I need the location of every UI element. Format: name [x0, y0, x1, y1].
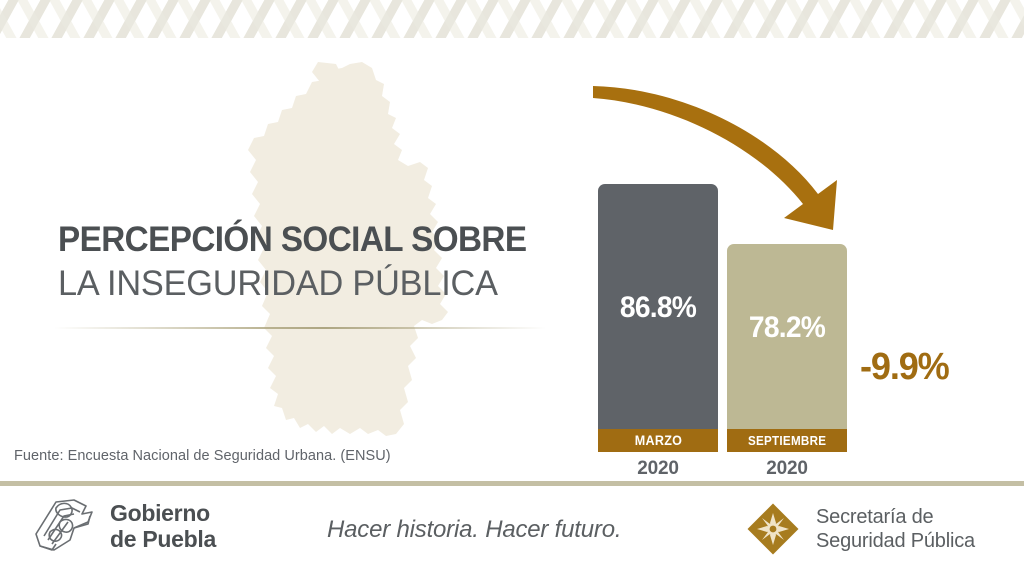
gov-text-line1: Gobierno	[110, 501, 216, 527]
bar-chart: 86.8% MARZO 2020 78.2% SEPTIEMBRE 2020 -…	[575, 60, 1024, 480]
seguridad-publica-diamond-emblem-icon	[744, 500, 802, 558]
footer: Gobierno de Puebla Hacer historia. Hacer…	[0, 486, 1024, 576]
source-note: Fuente: Encuesta Nacional de Seguridad U…	[14, 448, 391, 464]
title-divider	[54, 327, 546, 329]
footer-slogan: Hacer historia. Hacer futuro.	[327, 516, 621, 544]
bar-year-septiembre: 2020	[727, 458, 847, 480]
bar-month-label-marzo: MARZO	[634, 433, 681, 448]
bar-year-marzo: 2020	[598, 458, 718, 480]
gobierno-de-puebla-emblem-icon	[30, 494, 102, 560]
title-line-secondary: LA INSEGURIDAD PÚBLICA	[58, 262, 548, 306]
bar-month-label-septiembre: SEPTIEMBRE	[748, 434, 826, 448]
page-title: PERCEPCIÓN SOCIAL SOBRE LA INSEGURIDAD P…	[58, 222, 558, 305]
bar-month-band-marzo: MARZO	[598, 429, 718, 452]
secretaria-seguridad-publica-logo: Secretaría de Seguridad Pública	[744, 500, 975, 558]
bar-marzo[interactable]: 86.8%	[598, 184, 718, 429]
title-line-primary: PERCEPCIÓN SOCIAL SOBRE	[58, 222, 533, 258]
infographic-page: PERCEPCIÓN SOCIAL SOBRE LA INSEGURIDAD P…	[0, 0, 1024, 576]
bar-group-septiembre: 78.2% SEPTIEMBRE 2020	[727, 244, 847, 480]
gobierno-de-puebla-logo: Gobierno de Puebla	[30, 494, 216, 560]
woven-herringbone-icon	[0, 0, 1024, 44]
bar-value-marzo: 86.8%	[602, 291, 715, 325]
bar-septiembre[interactable]: 78.2%	[727, 244, 847, 429]
gov-text-line2: de Puebla	[110, 527, 216, 553]
delta-percentage-label: -9.9%	[860, 346, 949, 389]
header-pattern-band	[0, 0, 1024, 44]
bar-month-band-septiembre: SEPTIEMBRE	[727, 429, 847, 452]
ssp-text-line1: Secretaría de	[816, 505, 975, 529]
bar-value-septiembre: 78.2%	[731, 311, 844, 345]
bar-group-marzo: 86.8% MARZO 2020	[598, 184, 718, 480]
secretaria-seguridad-publica-text: Secretaría de Seguridad Pública	[816, 505, 975, 554]
ssp-text-line2: Seguridad Pública	[816, 529, 975, 553]
gobierno-de-puebla-text: Gobierno de Puebla	[110, 501, 216, 553]
